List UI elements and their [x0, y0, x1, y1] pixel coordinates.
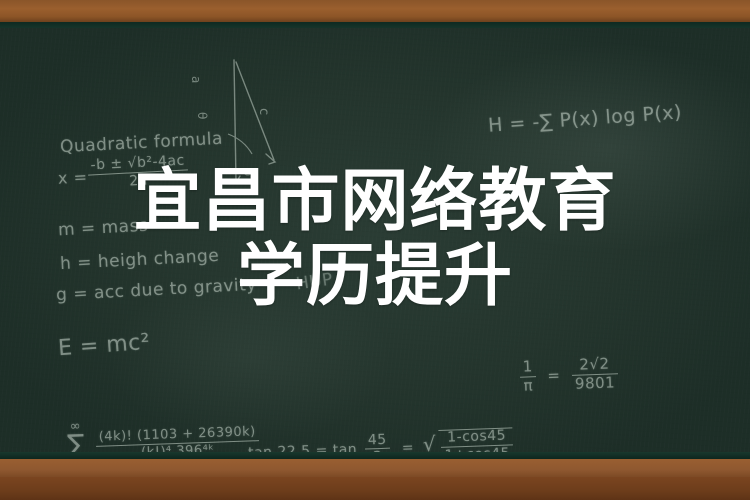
board-rim-bottom [0, 452, 750, 459]
chalk-quadratic-fraction: -b ± √b²-4ac 2a [87, 153, 189, 191]
triangle-label-a: a [189, 76, 203, 83]
chalk-tan-left: tan 22.5 = tan [248, 442, 358, 452]
chalk-mass-note: m = mass [58, 216, 149, 241]
triangle-label-theta: θ [195, 112, 209, 119]
chalk-tan-denominator: 2 [365, 449, 390, 452]
chalk-emc2-formula: E = mc² [57, 330, 151, 361]
triangle-label-b: b [240, 168, 255, 176]
chalk-height-note: h = heigh change [60, 246, 220, 274]
chalk-tan-identity: tan 22.5 = tan 45 2 = √ 1-cos45 1+cos45 [247, 427, 513, 452]
chalk-tan-equals: = [398, 439, 419, 452]
chalk-ramanujan-sigma: ∞ ∑ k=0 [61, 420, 91, 452]
chalk-ramanujan-sum: ∑ [62, 433, 91, 452]
triangle-label-c: c [256, 108, 271, 115]
chalk-sqrt-symbol: √ [423, 432, 437, 452]
chalk-entropy-formula: H = -∑ P(x) log P(x) [487, 101, 682, 136]
chalk-pi-left-denominator: π [520, 377, 537, 394]
chalk-pi-left-numerator: 1 [519, 359, 536, 377]
wood-frame-top [0, 0, 750, 22]
wood-chalk-ledge [0, 459, 750, 477]
chalk-quadratic-x: x = [58, 167, 88, 188]
chalk-hup-note: HUP [295, 270, 334, 295]
chalkboard-surface: c b a θ H = -∑ P(x) log P(x) Quadratic f… [0, 28, 750, 452]
chalk-gravity-note: g = acc due to gravity [56, 275, 258, 305]
chalk-tan-numerator: 45 [365, 432, 390, 450]
chalk-pi-right-denominator: 9801 [572, 374, 619, 392]
triangle-diagram: c b a θ [178, 56, 288, 186]
poster-image: c b a θ H = -∑ P(x) log P(x) Quadratic f… [0, 0, 750, 500]
chalk-pi-formula: 1 π = 2√2 9801 [519, 356, 618, 394]
chalk-ramanujan-fraction: (4k)! (1103 + 26390k) (k!)⁴ 396⁴ᵏ [96, 425, 260, 452]
wood-frame-bottom [0, 477, 750, 500]
chalk-pi-equals: = [541, 366, 567, 385]
